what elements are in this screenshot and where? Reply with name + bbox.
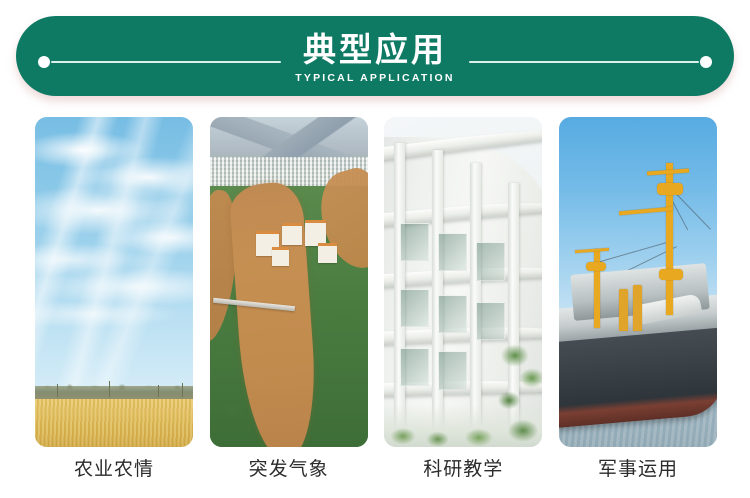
typical-application-page: 典型应用 TYPICAL APPLICATION	[0, 0, 750, 498]
application-card[interactable]	[35, 117, 193, 447]
campus-building-photo	[384, 117, 542, 447]
header-banner-pill: 典型应用 TYPICAL APPLICATION	[16, 16, 734, 96]
ship-masts	[559, 117, 717, 447]
page-subtitle: TYPICAL APPLICATION	[295, 72, 454, 85]
card-caption-agriculture: 农业农情	[35, 455, 193, 487]
card-caption-weather: 突发气象	[210, 455, 368, 487]
application-card-list	[35, 117, 717, 447]
card-caption-research: 科研教学	[384, 455, 542, 487]
application-card[interactable]	[384, 117, 542, 447]
flooded-river-photo	[210, 117, 368, 447]
card-caption-military: 军事运用	[559, 455, 717, 487]
wheat-field-photo	[35, 117, 193, 447]
sky-layer	[35, 117, 193, 391]
application-caption-list: 农业农情 突发气象 科研教学 军事运用	[35, 455, 717, 487]
wheat-field-layer	[35, 399, 193, 447]
header-banner: 典型应用 TYPICAL APPLICATION	[16, 16, 734, 96]
page-title: 典型应用	[303, 32, 447, 68]
utility-poles	[35, 378, 193, 398]
header-text-block: 典型应用 TYPICAL APPLICATION	[16, 16, 734, 96]
warship-photo	[559, 117, 717, 447]
application-card[interactable]	[210, 117, 368, 447]
application-card[interactable]	[559, 117, 717, 447]
shrub-row	[384, 404, 542, 447]
riverside-buildings	[254, 216, 342, 266]
